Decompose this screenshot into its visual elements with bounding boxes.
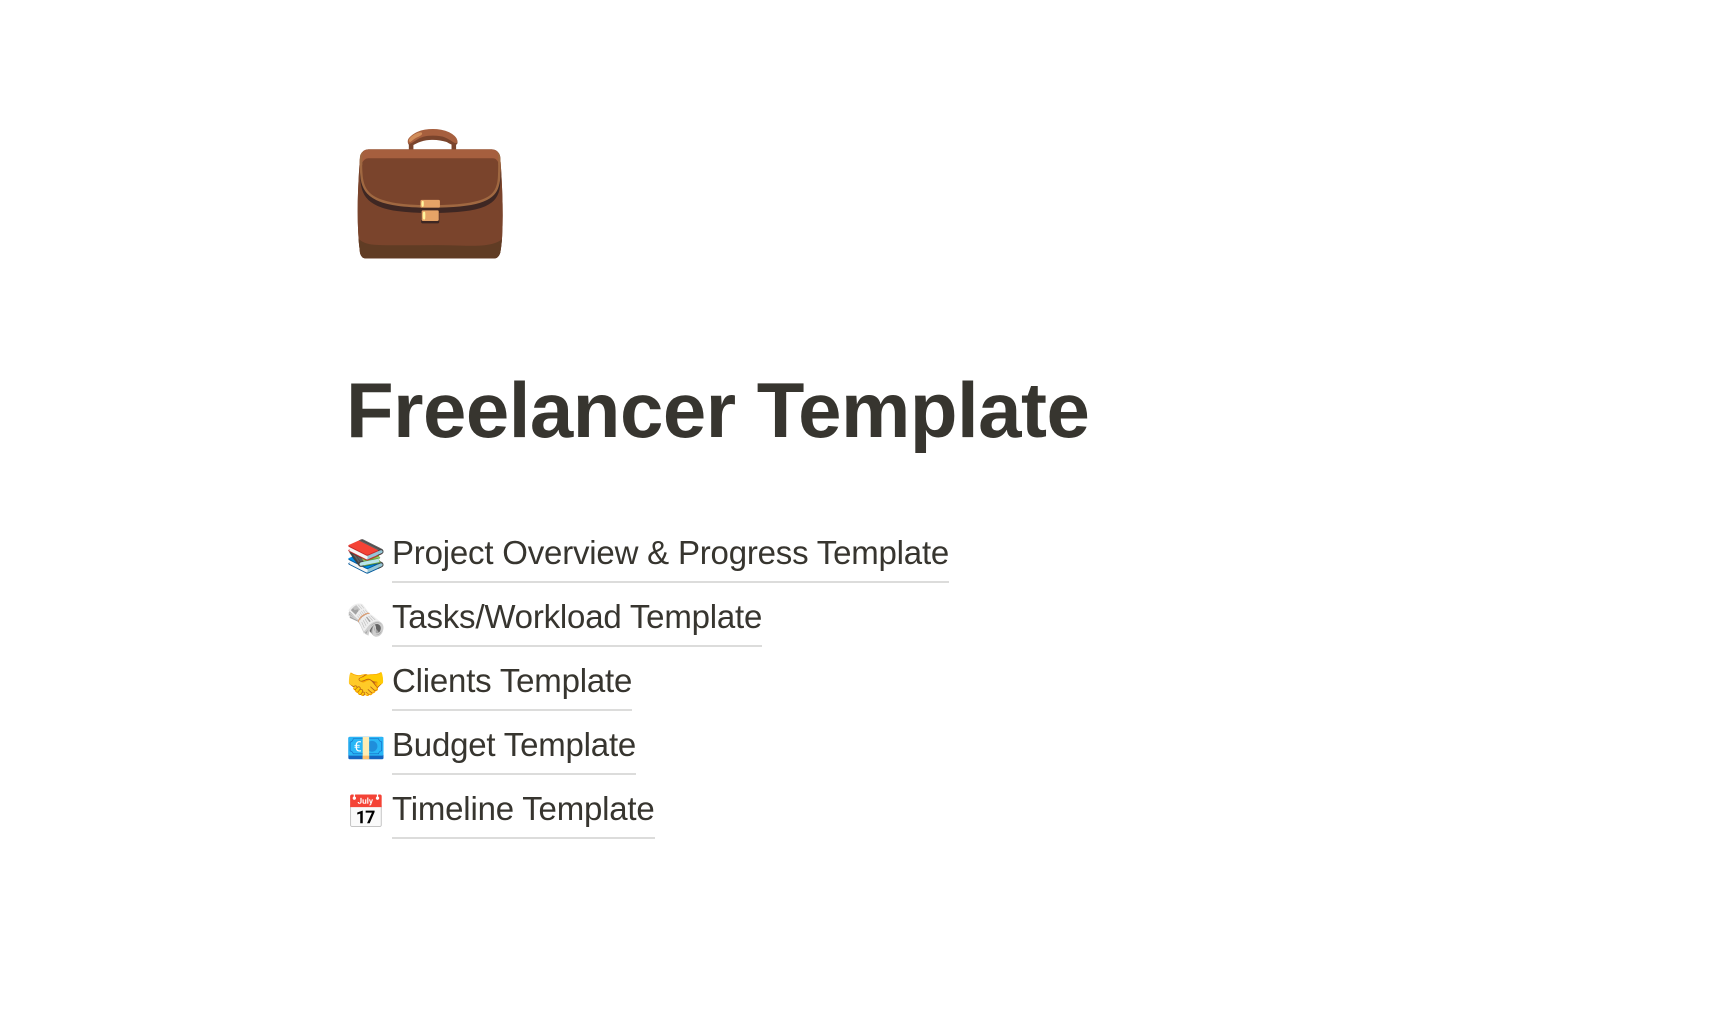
template-link-list: 📚 Project Overview & Progress Template 🗞… <box>346 524 1446 844</box>
link-timeline-template[interactable]: Timeline Template <box>392 786 655 839</box>
briefcase-emoji[interactable]: 💼 <box>348 108 504 264</box>
list-item[interactable]: 📚 Project Overview & Progress Template <box>346 524 1446 588</box>
link-budget-template[interactable]: Budget Template <box>392 722 636 775</box>
books-emoji: 📚 <box>346 536 392 576</box>
list-item[interactable]: 📅 Timeline Template <box>346 780 1446 844</box>
link-tasks-workload-template[interactable]: Tasks/Workload Template <box>392 594 762 647</box>
calendar-emoji: 📅 <box>346 792 392 832</box>
newspaper-page-emoji: 🗞️ <box>346 600 392 640</box>
list-item[interactable]: 💶 Budget Template <box>346 716 1446 780</box>
page-root: 💼 Freelancer Template 📚 Project Overview… <box>0 0 1734 1024</box>
euro-banknote-emoji: 💶 <box>346 728 392 768</box>
list-item[interactable]: 🤝 Clients Template <box>346 652 1446 716</box>
page-title: Freelancer Template <box>346 362 1546 458</box>
list-item[interactable]: 🗞️ Tasks/Workload Template <box>346 588 1446 652</box>
link-project-overview-progress-template[interactable]: Project Overview & Progress Template <box>392 530 949 583</box>
handshake-emoji: 🤝 <box>346 664 392 704</box>
link-clients-template[interactable]: Clients Template <box>392 658 632 711</box>
